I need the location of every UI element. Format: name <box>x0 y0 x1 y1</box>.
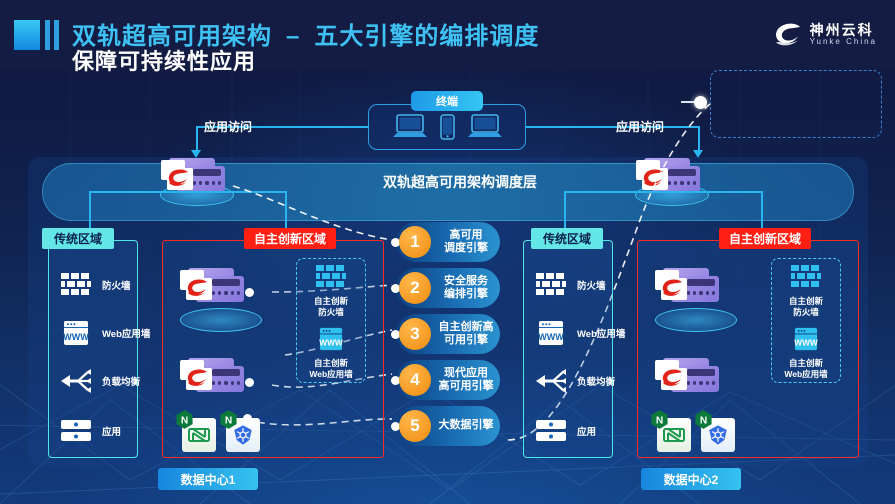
dc2-trad-item-firewall[interactable]: 防火墙 <box>535 272 606 298</box>
vendor-swirl-icon <box>661 278 685 298</box>
dc2-trad-label-app: 应用 <box>577 424 596 438</box>
dc1-trad-label-lb: 负载均衡 <box>102 374 140 388</box>
phone-icon <box>440 114 455 140</box>
dc2-inno-webwall: WWW 自主创新Web应用墙 <box>772 327 840 379</box>
dc2-innovation-zone-tag: 自主创新区域 <box>719 228 811 249</box>
logo-name-cn: 神州云科 <box>810 23 877 38</box>
vendor-swirl-icon <box>186 368 210 388</box>
access-label-left: 应用访问 <box>204 118 252 135</box>
svg-text:N: N <box>656 416 663 427</box>
engine-label: 高可用调度引擎 <box>434 229 498 255</box>
svg-text:WWW: WWW <box>794 337 818 347</box>
monitoring-widget <box>710 70 882 138</box>
load-balancer-icon <box>60 368 92 394</box>
svg-text:N: N <box>181 416 188 427</box>
vendor-swirl-icon <box>186 278 210 298</box>
application-icon <box>60 418 92 444</box>
engine-label: 安全服务编排引擎 <box>434 275 498 301</box>
dc1-traditional-zone-tag: 传统区域 <box>42 228 114 249</box>
nginx-badge-icon: N <box>695 410 712 429</box>
scheduling-layer-title: 双轨超高可用架构调度层 <box>360 172 560 192</box>
dc1-inno-fw-line2: 防火墙 <box>318 307 344 317</box>
dc2-trad-label-firewall: 防火墙 <box>577 278 606 292</box>
page-title-part-b: 五大引擎的编排调度 <box>314 23 539 50</box>
web-app-wall-icon: WWW <box>794 327 818 351</box>
dc2-inno-fw-line1: 自主创新 <box>789 296 823 306</box>
engine-item-2[interactable]: 2安全服务编排引擎 <box>396 268 500 308</box>
dc1-inno-components-box: 自主创新防火墙 WWW 自主创新Web应用墙 <box>296 258 366 383</box>
slide-root: 双轨超高可用架构–五大引擎的编排调度 保障可持续性应用 神州云科 Yunke C… <box>0 0 895 504</box>
dc2-trad-label-webwall: Web应用墙 <box>577 326 625 340</box>
dc1-inno-ww-line2: Web应用墙 <box>309 369 352 379</box>
dc1-trad-label-firewall: 防火墙 <box>102 278 131 292</box>
engine-label: 现代应用高可用引擎 <box>434 367 498 393</box>
engine-item-4[interactable]: 4现代应用高可用引擎 <box>396 360 500 400</box>
access-label-right: 应用访问 <box>616 118 664 135</box>
dc1-inno-server-icon-2 <box>182 358 250 396</box>
engine-number-badge: 4 <box>399 364 431 396</box>
dc2-inno-ww-line2: Web应用墙 <box>784 369 827 379</box>
dc1-trad-item-app[interactable]: 应用 <box>60 418 121 444</box>
engine-number-badge: 1 <box>399 226 431 258</box>
page-title-line-2: 保障可持续性应用 <box>72 44 256 76</box>
engine-number-badge: 3 <box>399 318 431 350</box>
dc1-trad-label-app: 应用 <box>102 424 121 438</box>
engine-label: 大数据引擎 <box>434 419 498 432</box>
dc2-trad-item-webwall[interactable]: WWW Web应用墙 <box>535 320 625 346</box>
dc1-trad-item-lb[interactable]: 负载均衡 <box>60 368 140 394</box>
firewall-icon <box>60 272 92 298</box>
dc2-inno-server-icon-1 <box>657 268 725 306</box>
vendor-swirl-icon <box>167 168 191 188</box>
laptop-icon <box>468 114 502 140</box>
page-title-dash: – <box>272 23 314 50</box>
dc2-name-tag: 数据中心2 <box>641 468 741 490</box>
logo-name-en: Yunke China <box>810 38 877 47</box>
dc1-inno-ww-line1: 自主创新 <box>314 358 348 368</box>
yunke-swirl-icon <box>773 22 803 48</box>
header-accent-bar-1 <box>45 20 50 50</box>
engine-item-1[interactable]: 1高可用调度引擎 <box>396 222 500 262</box>
dc1-trad-item-webwall[interactable]: WWW Web应用墙 <box>60 320 150 346</box>
svg-text:WWW: WWW <box>63 332 89 342</box>
engine-number-badge: 2 <box>399 272 431 304</box>
page-header: 双轨超高可用架构–五大引擎的编排调度 保障可持续性应用 神州云科 Yunke C… <box>0 0 895 70</box>
engine-list: 1高可用调度引擎2安全服务编排引擎3自主创新高可用引擎4现代应用高可用引擎5大数… <box>396 222 500 452</box>
dc2-inno-podium <box>655 308 737 332</box>
dc2-inno-fw-line2: 防火墙 <box>793 307 819 317</box>
load-balancer-icon <box>535 368 567 394</box>
nginx-badge-icon: N <box>651 410 668 429</box>
widget-connector-dot <box>694 96 707 109</box>
terminal-right-connector <box>526 126 700 128</box>
dc1-link-dot-1 <box>245 288 254 297</box>
svg-text:N: N <box>700 416 707 427</box>
dc2-trad-item-lb[interactable]: 负载均衡 <box>535 368 615 394</box>
firewall-icon <box>535 272 567 298</box>
firewall-icon <box>316 265 346 289</box>
engine-item-3[interactable]: 3自主创新高可用引擎 <box>396 314 500 354</box>
firewall-icon <box>791 265 821 289</box>
dc1-name-tag: 数据中心1 <box>158 468 258 490</box>
svg-text:WWW: WWW <box>319 337 343 347</box>
dc1-trad-item-firewall[interactable]: 防火墙 <box>60 272 131 298</box>
dc1-innovation-zone-tag: 自主创新区域 <box>244 228 336 249</box>
dc1-inno-podium <box>180 308 262 332</box>
brand-logo: 神州云科 Yunke China <box>773 22 877 48</box>
dc2-trad-label-lb: 负载均衡 <box>577 374 615 388</box>
dc1-inno-server-icon-1 <box>182 268 250 306</box>
terminal-tag: 终端 <box>411 91 483 111</box>
svg-text:WWW: WWW <box>538 332 564 342</box>
dc2-server-stack-icon <box>638 158 706 196</box>
dc2-trad-item-app[interactable]: 应用 <box>535 418 596 444</box>
svg-text:N: N <box>225 416 232 427</box>
engine-item-5[interactable]: 5大数据引擎 <box>396 406 500 446</box>
dc2-inno-ww-line1: 自主创新 <box>789 358 823 368</box>
laptop-icon <box>393 114 427 140</box>
dc2-inno-firewall: 自主创新防火墙 <box>772 265 840 317</box>
dc1-inno-webwall: WWW 自主创新Web应用墙 <box>297 327 365 379</box>
web-app-wall-icon: WWW <box>535 320 567 346</box>
dc2-traditional-zone-tag: 传统区域 <box>531 228 603 249</box>
vendor-swirl-icon <box>642 168 666 188</box>
dc1-inno-fw-line1: 自主创新 <box>314 296 348 306</box>
dc2-inno-components-box: 自主创新防火墙 WWW 自主创新Web应用墙 <box>771 258 841 383</box>
header-accent-bar-2 <box>54 20 59 50</box>
nginx-badge-icon: N <box>220 410 237 429</box>
web-app-wall-icon: WWW <box>319 327 343 351</box>
dc1-link-dot-3 <box>243 414 252 423</box>
dc1-server-stack-icon <box>163 158 231 196</box>
dc1-link-dot-2 <box>245 378 254 387</box>
dc1-trad-label-webwall: Web应用墙 <box>102 326 150 340</box>
vendor-swirl-icon <box>661 368 685 388</box>
engine-label: 自主创新高可用引擎 <box>434 321 498 347</box>
web-app-wall-icon: WWW <box>60 320 92 346</box>
header-accent-block <box>14 20 40 50</box>
engine-number-badge: 5 <box>399 410 431 442</box>
dc2-inno-server-icon-2 <box>657 358 725 396</box>
application-icon <box>535 418 567 444</box>
dc1-inno-firewall: 自主创新防火墙 <box>297 265 365 317</box>
nginx-badge-icon: N <box>176 410 193 429</box>
